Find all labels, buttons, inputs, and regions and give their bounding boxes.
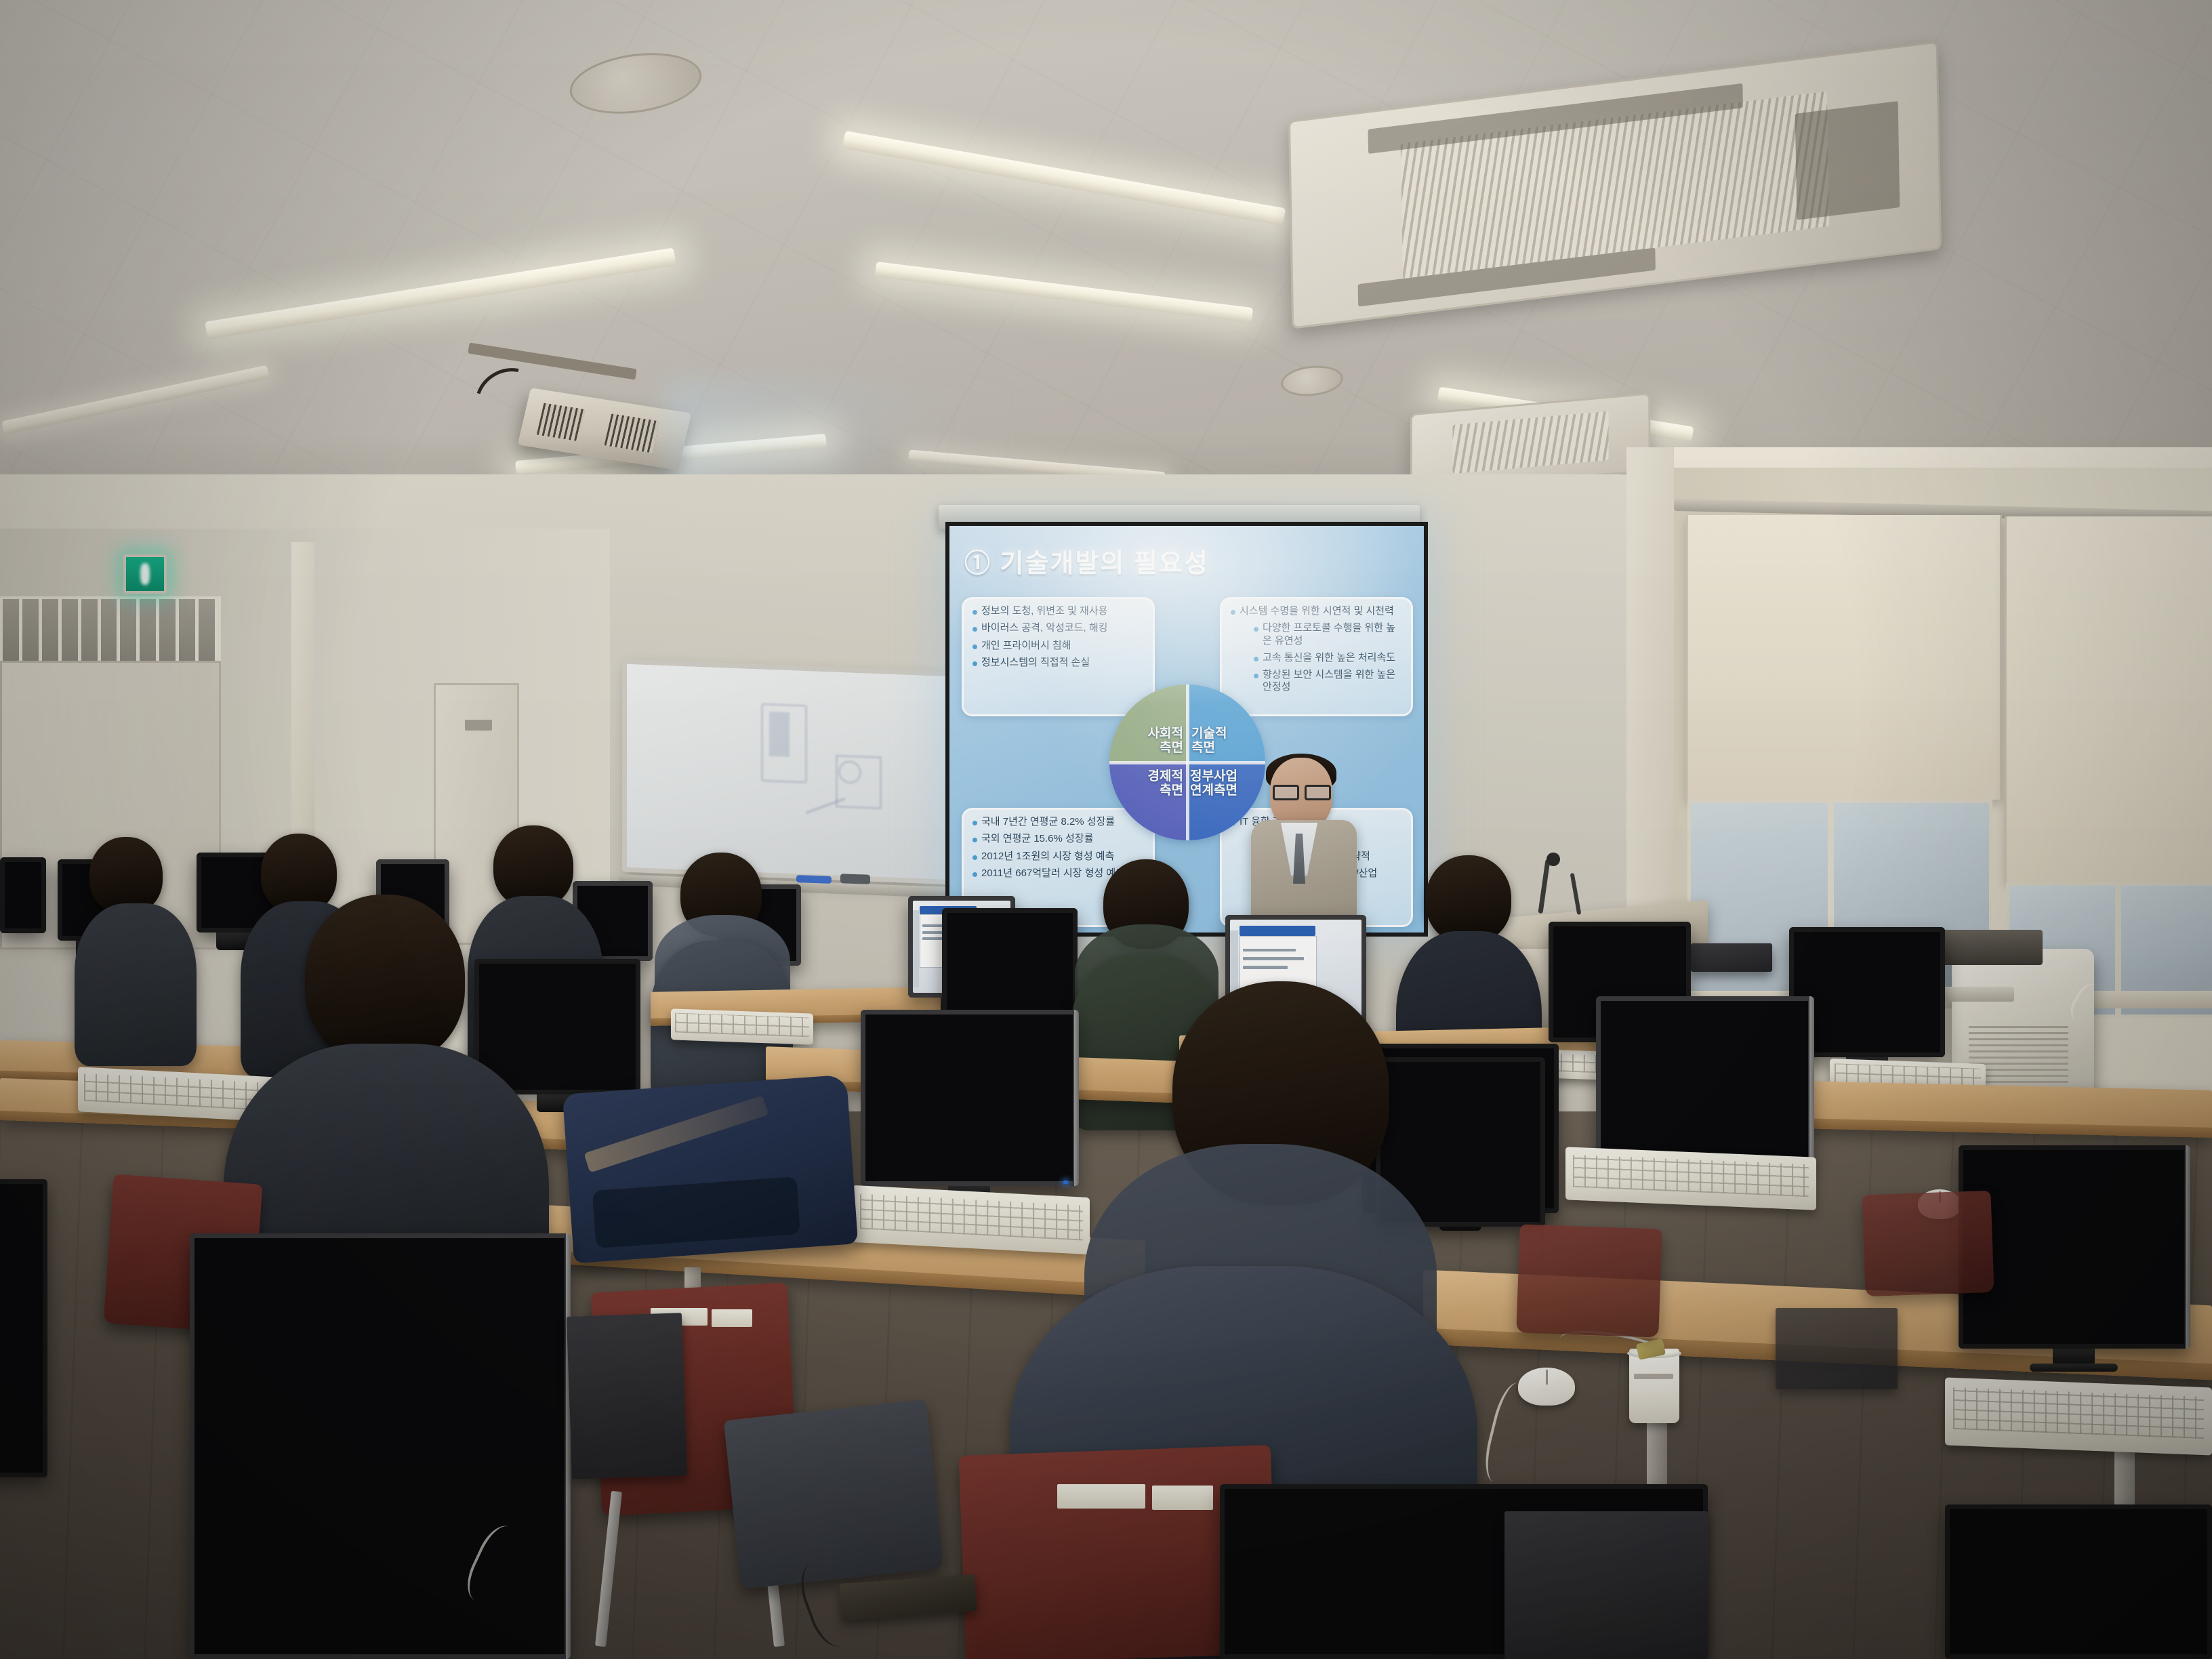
monitor — [0, 857, 46, 933]
microphone-icon — [1547, 853, 1560, 866]
clerestory-pane — [3, 599, 22, 667]
clerestory-pane — [62, 599, 81, 667]
pie-label-economic: 경제적 측면 — [1148, 769, 1183, 798]
bullet: 시스템 수명을 위한 시연적 및 시천력 — [1229, 605, 1404, 617]
clerestory-pane — [22, 599, 42, 667]
chair[interactable] — [1516, 1224, 1662, 1337]
clerestory-pane — [42, 599, 62, 667]
monitor — [190, 1233, 569, 1659]
pie-divider-horizontal — [1109, 761, 1265, 764]
keyboard — [1565, 1147, 1816, 1210]
keyboard-keys — [1573, 1155, 1809, 1197]
monitor — [0, 1179, 47, 1477]
chair-asset-label — [712, 1309, 752, 1327]
whiteboard-mark — [769, 712, 790, 757]
pie-quadrant-economic: 경제적 측면 — [1109, 762, 1187, 840]
classroom-photograph: ① 기술개발의 필요성 정보의 도청, 위변조 및 재사용 바이러스 공격, 악… — [0, 0, 2212, 1659]
door-sign — [465, 720, 492, 731]
backpack — [562, 1075, 858, 1264]
clerestory-pane — [199, 599, 218, 667]
bullet: 정보의 도청, 위변조 및 재사용 — [971, 605, 1145, 617]
whiteboard-mark — [838, 760, 861, 784]
ac-vane — [1795, 101, 1900, 220]
chair[interactable] — [1862, 1191, 1994, 1297]
backpack-pocket — [592, 1176, 800, 1248]
pc-tower — [1504, 1511, 1708, 1659]
clerestory-pane — [81, 599, 101, 667]
pie-quadrant-technical: 기술적 측면 — [1187, 684, 1265, 762]
bullet: 다양한 프로토콜 수행을 위한 높은 유연성 — [1252, 622, 1404, 647]
keyboard — [1945, 1377, 2212, 1455]
keyboard-keys — [1953, 1387, 2204, 1439]
student-head — [1426, 855, 1511, 943]
clerestory-pane — [140, 599, 159, 667]
projector-vent — [604, 413, 659, 453]
emergency-exit-sign — [123, 554, 167, 594]
whiteboard — [622, 659, 957, 885]
keyboard — [671, 1008, 813, 1044]
clerestory-pane — [159, 599, 179, 667]
clerestory-pane — [120, 599, 140, 667]
running-man-icon — [140, 563, 149, 585]
bullet: 바이러스 공격, 악성코드, 해킹 — [971, 622, 1145, 634]
slide-title: ① 기술개발의 필요성 — [964, 542, 1410, 579]
mouse-button-split — [1546, 1370, 1548, 1384]
window-roller-blind[interactable] — [2005, 516, 2212, 882]
bullet: 고속 통신을 위한 높은 처리속도 — [1252, 652, 1404, 664]
whiteboard-marker — [796, 875, 832, 884]
bullet: 정보시스템의 직접적 손실 — [971, 657, 1145, 669]
clerestory-window-band — [0, 596, 221, 670]
keyboard-keys — [675, 1013, 808, 1037]
projector-vent — [537, 403, 586, 441]
pie-label-technical: 기술적 측면 — [1191, 726, 1227, 756]
monitor — [1959, 1145, 2189, 1349]
pie-quadrant-social: 사회적 측면 — [1109, 684, 1187, 762]
slide-pie-diagram: 사회적 측면 기술적 측면 경제적 측면 정부사업 연계측면 — [1109, 684, 1265, 840]
bullet: 개인 프라이버시 침해 — [971, 640, 1145, 652]
chair-asset-label — [1057, 1484, 1145, 1509]
clerestory-pane — [179, 599, 199, 667]
pie-label-government: 정부사업 연계측면 — [1190, 769, 1237, 798]
av-equipment-box — [1691, 943, 1772, 972]
eyeglasses-icon — [1273, 785, 1331, 796]
monitor — [1945, 1504, 2212, 1659]
pc-tower — [567, 1313, 687, 1479]
ac-grille — [1452, 411, 1608, 474]
student — [75, 837, 197, 1067]
monitor — [1596, 996, 1813, 1166]
paper-cup — [1629, 1349, 1679, 1423]
student-head — [305, 895, 465, 1064]
clerestory-pane — [101, 599, 121, 667]
chair-asset-label — [1152, 1486, 1213, 1510]
student-torso — [75, 903, 197, 1066]
pie-label-social: 사회적 측면 — [1148, 726, 1183, 756]
student-head — [89, 837, 163, 914]
backpack-stripe — [584, 1095, 769, 1172]
cup-print — [1634, 1374, 1673, 1379]
bullet: 향상된 보안 시스템을 위한 높은 안정성 — [1252, 669, 1404, 694]
window-roller-blind[interactable] — [1686, 515, 2002, 800]
pc-tower — [1776, 1308, 1898, 1389]
whiteboard-eraser — [840, 874, 870, 884]
